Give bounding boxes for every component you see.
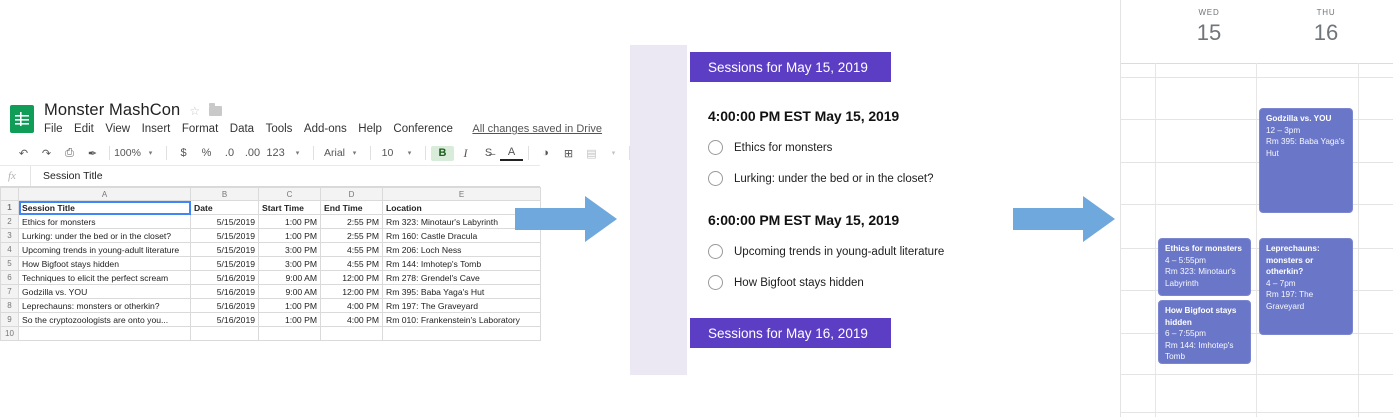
calendar-hour-line <box>1121 77 1393 78</box>
menu-bar: File Edit View Insert Format Data Tools … <box>44 123 602 135</box>
table-row[interactable]: 5 How Bigfoot stays hidden 5/15/2019 3:0… <box>1 257 541 271</box>
cell-session-title[interactable]: Ethics for monsters <box>19 215 191 229</box>
flow-arrow-agenda-to-calendar <box>1013 196 1118 242</box>
cell-date[interactable]: 5/15/2019 <box>191 215 259 229</box>
folder-icon[interactable] <box>209 106 222 116</box>
currency-format-icon[interactable]: $ <box>172 143 195 163</box>
sheets-toolbar: ↶ ↷ ⎙ ✒ 100% ▾ $ % .0 .00 123 ▾ Arial ▾ … <box>0 141 540 165</box>
bold-button[interactable]: B <box>431 146 454 161</box>
table-row[interactable]: 10 <box>1 327 541 341</box>
page-title[interactable]: Monster MashCon <box>44 101 180 120</box>
fill-color-icon[interactable]: ◑ <box>534 143 557 163</box>
cell-start-time[interactable]: 1:00 PM <box>259 299 321 313</box>
table-row[interactable]: 9 So the cryptozoologists are onto you..… <box>1 313 541 327</box>
google-sheets-window: Monster MashCon ☆ File Edit View Insert … <box>0 95 540 320</box>
calendar-hour-line <box>1121 374 1393 375</box>
menu-item-tools[interactable]: Tools <box>266 123 293 135</box>
row-number[interactable]: 4 <box>1 243 19 257</box>
star-outline-icon[interactable]: ☆ <box>189 105 200 117</box>
calendar-event-time: 6 – 7:55pm <box>1165 328 1245 340</box>
session-option-label: How Bigfoot stays hidden <box>734 277 864 289</box>
session-option-label: Lurking: under the bed or in the closet? <box>734 173 933 185</box>
right-arrow-icon <box>515 208 587 230</box>
agenda-content: Sessions for May 15, 2019 4:00:00 PM EST… <box>690 45 920 375</box>
column-header-d[interactable]: D <box>321 188 383 201</box>
menu-item-format[interactable]: Format <box>182 123 218 135</box>
cell-start-time[interactable]: 3:00 PM <box>259 243 321 257</box>
calendar-event[interactable]: Godzilla vs. YOU 12 – 3pm Rm 395: Baba Y… <box>1259 108 1353 213</box>
flow-arrow-sheets-to-agenda <box>515 196 620 242</box>
session-slot-time-2: 6:00:00 PM EST May 15, 2019 <box>708 212 920 228</box>
toolbar-divider <box>109 146 110 160</box>
toolbar-divider <box>370 146 371 160</box>
cell-end-time[interactable]: 2:55 PM <box>321 229 383 243</box>
cell-location[interactable]: Rm 278: Grendel's Cave <box>383 271 541 285</box>
cell-empty[interactable] <box>191 327 259 341</box>
zoom-level-select[interactable]: 100% <box>115 143 140 163</box>
calendar-time-grid[interactable]: Godzilla vs. YOU 12 – 3pm Rm 395: Baba Y… <box>1121 63 1393 417</box>
menu-item-conference[interactable]: Conference <box>393 123 452 135</box>
radio-button-icon[interactable] <box>708 140 723 155</box>
calendar-event[interactable]: How Bigfoot stays hidden 6 – 7:55pm Rm 1… <box>1158 300 1251 364</box>
table-row[interactable]: 4 Upcoming trends in young-adult literat… <box>1 243 541 257</box>
calendar-hour-line <box>1121 412 1393 413</box>
cell-end-time[interactable]: 12:00 PM <box>321 271 383 285</box>
cell-date[interactable]: 5/16/2019 <box>191 271 259 285</box>
column-header-c[interactable]: C <box>259 188 321 201</box>
menu-item-edit[interactable]: Edit <box>74 123 94 135</box>
cell-end-time[interactable]: 2:55 PM <box>321 215 383 229</box>
row-number[interactable]: 5 <box>1 257 19 271</box>
cell-location[interactable]: Rm 395: Baba Yaga's Hut <box>383 285 541 299</box>
cell-b1[interactable]: Date <box>191 201 259 215</box>
session-day-banner-2: Sessions for May 16, 2019 <box>690 318 891 348</box>
session-day-banner-1: Sessions for May 15, 2019 <box>690 52 891 82</box>
calendar-dow-label: THU <box>1276 8 1376 17</box>
row-number[interactable]: 10 <box>1 327 19 341</box>
list-item[interactable]: How Bigfoot stays hidden <box>708 275 920 290</box>
calendar-event-time: 12 – 3pm <box>1266 125 1347 137</box>
cell-date[interactable]: 5/15/2019 <box>191 257 259 271</box>
cell-empty[interactable] <box>19 327 191 341</box>
radio-button-icon[interactable] <box>708 244 723 259</box>
menu-item-help[interactable]: Help <box>358 123 382 135</box>
table-row[interactable]: 8 Leprechauns: monsters or otherkin? 5/1… <box>1 299 541 313</box>
calendar-event[interactable]: Leprechauns: monsters or otherkin? 4 – 7… <box>1259 238 1353 335</box>
calendar-event-location: Rm 395: Baba Yaga's Hut <box>1266 136 1347 159</box>
right-arrow-head <box>585 196 617 242</box>
cell-end-time[interactable]: 4:00 PM <box>321 299 383 313</box>
google-sheets-logo-icon <box>10 105 34 133</box>
undo-icon[interactable]: ↶ <box>12 143 35 163</box>
column-header-a[interactable]: A <box>19 188 191 201</box>
radio-button-icon[interactable] <box>708 171 723 186</box>
calendar-event-title: Godzilla vs. YOU <box>1266 113 1347 125</box>
cell-date[interactable]: 5/16/2019 <box>191 285 259 299</box>
calendar-column-divider <box>1155 63 1156 417</box>
right-arrow-icon <box>1013 208 1085 230</box>
cell-date[interactable]: 5/15/2019 <box>191 229 259 243</box>
title-block: Monster MashCon ☆ File Edit View Insert … <box>44 101 602 135</box>
table-row[interactable]: 7 Godzilla vs. YOU 5/16/2019 9:00 AM 12:… <box>1 285 541 299</box>
cell-date[interactable]: 5/16/2019 <box>191 313 259 327</box>
calendar-day-header-wed[interactable]: WED 15 <box>1159 8 1259 46</box>
cell-empty[interactable] <box>321 327 383 341</box>
cell-c1[interactable]: Start Time <box>259 201 321 215</box>
print-icon[interactable]: ⎙ <box>58 143 81 163</box>
merge-cells-icon[interactable]: ▤ <box>580 143 603 163</box>
row-number[interactable]: 7 <box>1 285 19 299</box>
table-row[interactable]: 2 Ethics for monsters 5/15/2019 1:00 PM … <box>1 215 541 229</box>
spreadsheet-grid[interactable]: A B C D E 1 Session Title Date Start Tim… <box>0 187 541 341</box>
toolbar-divider <box>166 146 167 160</box>
document-title-row: Monster MashCon ☆ <box>44 101 602 120</box>
text-color-button[interactable]: A <box>500 146 523 161</box>
row-number[interactable]: 1 <box>1 201 19 215</box>
menu-item-view[interactable]: View <box>105 123 130 135</box>
cell-start-time[interactable]: 1:00 PM <box>259 313 321 327</box>
italic-button[interactable]: I <box>454 143 477 163</box>
chevron-down-icon[interactable]: ▾ <box>140 143 161 163</box>
calendar-header: WED 15 THU 16 <box>1121 0 1393 64</box>
table-row[interactable]: 1 Session Title Date Start Time End Time… <box>1 201 541 215</box>
cell-empty[interactable] <box>259 327 321 341</box>
column-header-b[interactable]: B <box>191 188 259 201</box>
cell-session-title[interactable]: How Bigfoot stays hidden <box>19 257 191 271</box>
cell-session-title[interactable]: Techniques to elicit the perfect scream <box>19 271 191 285</box>
calendar-column-divider <box>1256 63 1257 417</box>
calendar-column-divider <box>1358 63 1359 417</box>
calendar-event-time: 4 – 5:55pm <box>1165 255 1245 267</box>
cell-session-title[interactable]: So the cryptozoologists are onto you... <box>19 313 191 327</box>
cell-date[interactable]: 5/15/2019 <box>191 243 259 257</box>
cell-start-time[interactable]: 9:00 AM <box>259 285 321 299</box>
calendar-event-title: How Bigfoot stays hidden <box>1165 305 1245 328</box>
cell-d1[interactable]: End Time <box>321 201 383 215</box>
save-status-link[interactable]: All changes saved in Drive <box>472 123 602 135</box>
cell-a1[interactable]: Session Title <box>19 201 191 215</box>
cell-end-time[interactable]: 4:55 PM <box>321 243 383 257</box>
calendar-event-time: 4 – 7pm <box>1266 278 1347 290</box>
menu-item-file[interactable]: File <box>44 123 63 135</box>
cell-end-time[interactable]: 4:00 PM <box>321 313 383 327</box>
strikethrough-button[interactable]: S̶ <box>477 143 500 163</box>
formula-bar: fx Session Title <box>0 165 540 187</box>
increase-decimal-icon[interactable]: .00 <box>241 143 264 163</box>
menu-item-insert[interactable]: Insert <box>142 123 171 135</box>
cell-start-time[interactable]: 3:00 PM <box>259 257 321 271</box>
session-option-label: Ethics for monsters <box>734 142 832 154</box>
calendar-event-title: Ethics for monsters <box>1165 243 1245 255</box>
cell-start-time[interactable]: 9:00 AM <box>259 271 321 285</box>
formula-input[interactable]: Session Title <box>30 166 103 186</box>
cell-empty[interactable] <box>383 327 541 341</box>
paint-format-icon[interactable]: ✒ <box>81 143 104 163</box>
table-row[interactable]: 6 Techniques to elicit the perfect screa… <box>1 271 541 285</box>
cell-session-title[interactable]: Godzilla vs. YOU <box>19 285 191 299</box>
more-formats-button[interactable]: 123 <box>264 143 287 163</box>
radio-button-icon[interactable] <box>708 275 723 290</box>
chevron-down-icon[interactable]: ▾ <box>287 143 308 163</box>
cell-location[interactable]: Rm 206: Loch Ness <box>383 243 541 257</box>
calendar-day-number: 16 <box>1276 20 1376 46</box>
calendar-dow-label: WED <box>1159 8 1259 17</box>
percent-format-icon[interactable]: % <box>195 143 218 163</box>
cell-end-time[interactable]: 4:55 PM <box>321 257 383 271</box>
menu-item-addons[interactable]: Add-ons <box>304 123 347 135</box>
sheets-header: Monster MashCon ☆ File Edit View Insert … <box>0 95 540 141</box>
column-header-row: A B C D E <box>1 188 541 201</box>
cell-location[interactable]: Rm 010: Frankenstein's Laboratory <box>383 313 541 327</box>
calendar-day-number: 15 <box>1159 20 1259 46</box>
menu-item-data[interactable]: Data <box>230 123 254 135</box>
google-calendar-window: WED 15 THU 16 Godzilla vs. YOU 12 – 3pm … <box>1120 0 1393 417</box>
toolbar-divider <box>313 146 314 160</box>
agenda-app-window: Sessions for May 15, 2019 4:00:00 PM EST… <box>630 45 920 375</box>
cell-session-title[interactable]: Lurking: under the bed or in the closet? <box>19 229 191 243</box>
cell-location[interactable]: Rm 197: The Graveyard <box>383 299 541 313</box>
list-item[interactable]: Upcoming trends in young-adult literatur… <box>708 244 920 259</box>
toolbar-divider <box>528 146 529 160</box>
font-family-select[interactable]: Arial <box>319 143 344 163</box>
cell-start-time[interactable]: 1:00 PM <box>259 215 321 229</box>
session-slot-time-1: 4:00:00 PM EST May 15, 2019 <box>708 108 920 124</box>
function-icon[interactable]: fx <box>8 170 30 182</box>
cell-date[interactable]: 5/16/2019 <box>191 299 259 313</box>
chevron-down-icon[interactable]: ▾ <box>344 143 365 163</box>
calendar-event[interactable]: Ethics for monsters 4 – 5:55pm Rm 323: M… <box>1158 238 1251 296</box>
row-number[interactable]: 8 <box>1 299 19 313</box>
row-number[interactable]: 9 <box>1 313 19 327</box>
redo-icon[interactable]: ↷ <box>35 143 58 163</box>
list-item[interactable]: Lurking: under the bed or in the closet? <box>708 171 920 186</box>
chevron-down-icon[interactable]: ▾ <box>603 143 624 163</box>
cell-start-time[interactable]: 1:00 PM <box>259 229 321 243</box>
decrease-decimal-icon[interactable]: .0 <box>218 143 241 163</box>
row-number[interactable]: 2 <box>1 215 19 229</box>
cell-end-time[interactable]: 12:00 PM <box>321 285 383 299</box>
session-option-label: Upcoming trends in young-adult literatur… <box>734 246 944 258</box>
calendar-event-location: Rm 323: Minotaur's Labyrinth <box>1165 266 1245 289</box>
calendar-event-location: Rm 144: Imhotep's Tomb <box>1165 340 1245 363</box>
row-number[interactable]: 6 <box>1 271 19 285</box>
borders-icon[interactable]: ⊞ <box>557 143 580 163</box>
agenda-side-rail <box>630 45 687 375</box>
toolbar-divider <box>425 146 426 160</box>
cell-location[interactable]: Rm 144: Imhotep's Tomb <box>383 257 541 271</box>
cell-session-title[interactable]: Upcoming trends in young-adult literatur… <box>19 243 191 257</box>
corner-cell[interactable] <box>1 188 19 201</box>
calendar-event-title: Leprechauns: monsters or otherkin? <box>1266 243 1347 278</box>
row-number[interactable]: 3 <box>1 229 19 243</box>
calendar-event-location: Rm 197: The Graveyard <box>1266 289 1347 312</box>
cell-session-title[interactable]: Leprechauns: monsters or otherkin? <box>19 299 191 313</box>
font-size-select[interactable]: 10 <box>376 143 399 163</box>
spreadsheet-body: 1 Session Title Date Start Time End Time… <box>1 201 541 341</box>
right-arrow-head <box>1083 196 1115 242</box>
list-item[interactable]: Ethics for monsters <box>708 140 920 155</box>
table-row[interactable]: 3 Lurking: under the bed or in the close… <box>1 229 541 243</box>
calendar-day-header-thu[interactable]: THU 16 <box>1276 8 1376 46</box>
chevron-down-icon[interactable]: ▾ <box>399 143 420 163</box>
